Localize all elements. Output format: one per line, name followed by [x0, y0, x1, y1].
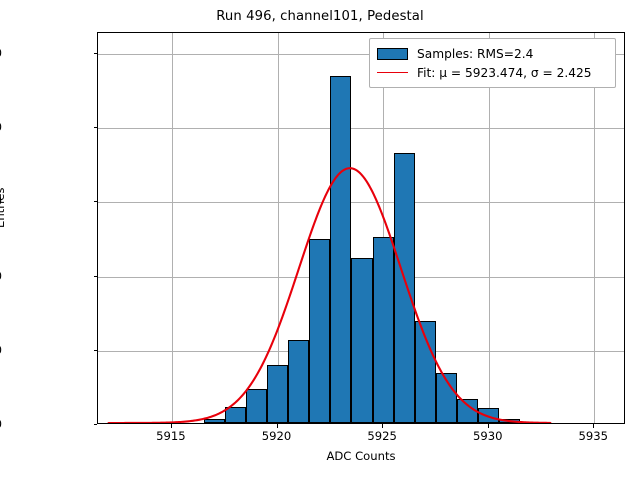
legend-entry-samples: Samples: RMS=2.4	[377, 44, 608, 63]
figure-canvas: Run 496, channel101, Pedestal Entries 05…	[0, 0, 640, 480]
x-tick-label: 5930	[473, 429, 503, 443]
histogram-bar	[499, 419, 520, 423]
gridline-horizontal	[98, 128, 624, 129]
x-tick-mark	[488, 424, 489, 428]
gridline-vertical	[594, 33, 595, 423]
y-tick-label: 150000	[0, 194, 2, 208]
legend-patch-icon	[377, 48, 408, 60]
x-tick-label: 5920	[262, 429, 292, 443]
y-tick-mark	[94, 201, 98, 202]
y-tick-mark	[94, 350, 98, 351]
y-tick-label: 0	[0, 417, 2, 431]
histogram-bar	[309, 239, 330, 423]
legend-entry-fit: Fit: μ = 5923.474, σ = 2.425	[377, 63, 608, 82]
y-tick-mark	[94, 53, 98, 54]
gridline-horizontal	[98, 202, 624, 203]
x-tick-label: 5935	[579, 429, 609, 443]
x-tick-mark	[171, 424, 172, 428]
chart-title: Run 496, channel101, Pedestal	[0, 9, 640, 24]
y-tick-label: 250000	[0, 46, 2, 60]
histogram-bar	[436, 373, 457, 423]
histogram-bar	[373, 237, 394, 423]
x-tick-mark	[277, 424, 278, 428]
x-tick-label: 5925	[367, 429, 397, 443]
legend-line-icon	[377, 72, 408, 73]
histogram-bar	[246, 389, 267, 423]
histogram-bar	[351, 258, 372, 423]
histogram-bar	[267, 365, 288, 423]
histogram-bar	[204, 419, 225, 423]
histogram-bar	[415, 321, 436, 423]
y-tick-label: 100000	[0, 269, 2, 283]
x-tick-label: 5915	[156, 429, 186, 443]
y-tick-mark	[94, 127, 98, 128]
x-axis-label: ADC Counts	[97, 449, 625, 463]
histogram-bar	[330, 76, 351, 423]
y-tick-mark	[94, 424, 98, 425]
x-tick-mark	[382, 424, 383, 428]
histogram-bar	[478, 408, 499, 423]
histogram-bar	[394, 153, 415, 423]
legend-label-fit: Fit: μ = 5923.474, σ = 2.425	[417, 66, 591, 80]
gridline-vertical	[489, 33, 490, 423]
plot-area	[97, 32, 625, 424]
histogram-bar	[457, 399, 478, 423]
x-tick-mark	[593, 424, 594, 428]
gridline-vertical	[172, 33, 173, 423]
legend-label-samples: Samples: RMS=2.4	[417, 47, 533, 61]
histogram-bar	[225, 407, 246, 423]
histogram-bar	[288, 340, 309, 423]
y-tick-label: 200000	[0, 120, 2, 134]
y-tick-label: 50000	[0, 343, 2, 357]
chart-legend[interactable]: Samples: RMS=2.4 Fit: μ = 5923.474, σ = …	[369, 38, 616, 88]
y-tick-mark	[94, 276, 98, 277]
